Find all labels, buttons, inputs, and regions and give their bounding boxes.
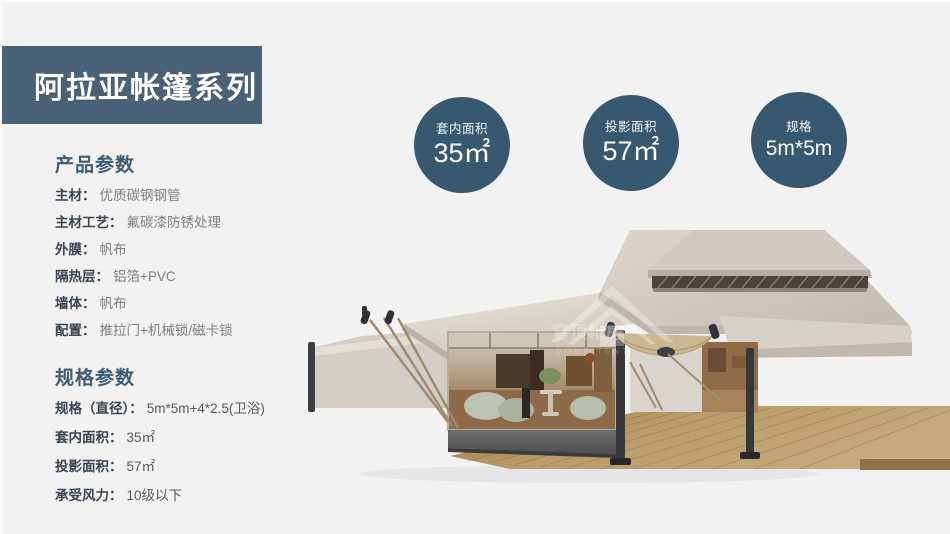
page-title: 阿拉亚帐篷系列 <box>34 63 258 107</box>
stat-value: 57㎡ <box>602 136 659 167</box>
product-section-heading: 产品参数 <box>55 150 330 177</box>
param-label: 主材工艺： <box>55 215 123 230</box>
spec-value: 35㎡ <box>127 430 156 445</box>
svg-text:DOME TENT: DOME TENT <box>556 347 630 356</box>
list-item: 承受风力：10级以下 <box>55 485 340 506</box>
list-item: 主材：优质碳钢钢管 <box>55 185 330 206</box>
param-label: 墙体： <box>55 296 96 311</box>
spec-value: 5m*5m+4*2.5(卫浴) <box>147 401 265 416</box>
product-parameters-panel: 产品参数 主材：优质碳钢钢管 主材工艺：氟碳漆防锈处理 外膜：帆布 隔热层：铝箔… <box>0 150 330 347</box>
support-pole <box>746 348 754 458</box>
svg-text:穹顶帐房: 穹顶帐房 <box>552 322 624 342</box>
stat-label: 投影面积 <box>605 119 657 135</box>
spec-label: 承受风力： <box>55 488 123 503</box>
list-item: 配置：推拉门+机械锁/磁卡锁 <box>55 320 330 341</box>
param-value: 推拉门+机械锁/磁卡锁 <box>100 323 233 338</box>
title-banner: 阿拉亚帐篷系列 <box>2 46 262 124</box>
spec-label: 套内面积： <box>55 430 123 445</box>
param-label: 外膜： <box>55 242 96 257</box>
stat-circle-projected-area: 投影面积 57㎡ <box>583 95 679 191</box>
wardrobe <box>708 348 726 372</box>
support-pole <box>308 342 315 412</box>
specification-parameters-list: 规格（直径）：5m*5m+4*2.5(卫浴) 套内面积：35㎡ 投影面积：57㎡… <box>0 398 340 506</box>
spec-value: 10级以下 <box>127 488 183 503</box>
param-value: 优质碳钢钢管 <box>100 188 181 203</box>
param-value: 铝箔+PVC <box>113 269 176 284</box>
list-item: 墙体：帆布 <box>55 293 330 314</box>
param-value: 帆布 <box>100 242 127 257</box>
tent-render-illustration: 穹顶帐房 DOME TENT <box>300 230 950 534</box>
spec-label: 规格（直径）： <box>55 401 143 416</box>
list-item: 外膜：帆布 <box>55 239 330 260</box>
tent-render-svg: 穹顶帐房 DOME TENT <box>300 230 950 534</box>
spec-value: 57㎡ <box>127 459 156 474</box>
param-value: 帆布 <box>100 296 127 311</box>
param-label: 主材： <box>55 188 96 203</box>
list-item: 主材工艺：氟碳漆防锈处理 <box>55 212 330 233</box>
list-item: 隔热层：铝箔+PVC <box>55 266 330 287</box>
param-label: 隔热层： <box>55 269 109 284</box>
figure <box>522 388 530 418</box>
pole-base <box>740 452 760 459</box>
flower-vase <box>539 368 561 384</box>
specification-parameters-panel: 规格参数 规格（直径）：5m*5m+4*2.5(卫浴) 套内面积：35㎡ 投影面… <box>0 363 340 514</box>
armchair <box>570 396 606 420</box>
spec-label: 投影面积： <box>55 459 123 474</box>
stat-label: 套内面积 <box>436 121 488 137</box>
stat-circle-indoor-area: 套内面积 35㎡ <box>414 97 510 193</box>
rope-anchors <box>360 306 395 325</box>
spec-section-heading: 规格参数 <box>55 363 340 390</box>
product-parameters-list: 主材：优质碳钢钢管 主材工艺：氟碳漆防锈处理 外膜：帆布 隔热层：铝箔+PVC … <box>0 185 330 341</box>
stat-label: 规格 <box>786 119 812 135</box>
top-edge-strip <box>0 0 950 2</box>
stat-value: 35㎡ <box>433 138 490 169</box>
param-value: 氟碳漆防锈处理 <box>127 215 222 230</box>
pole-base <box>610 458 631 465</box>
list-item: 规格（直径）：5m*5m+4*2.5(卫浴) <box>55 398 340 419</box>
stat-value: 5m*5m <box>766 136 833 162</box>
list-item: 投影面积：57㎡ <box>55 456 340 477</box>
slide-root: 阿拉亚帐篷系列 产品参数 主材：优质碳钢钢管 主材工艺：氟碳漆防锈处理 外膜：帆… <box>0 0 950 534</box>
list-item: 套内面积：35㎡ <box>55 427 340 448</box>
param-label: 配置： <box>55 323 96 338</box>
stat-circle-dimensions: 规格 5m*5m <box>751 92 847 188</box>
piano <box>496 354 532 388</box>
